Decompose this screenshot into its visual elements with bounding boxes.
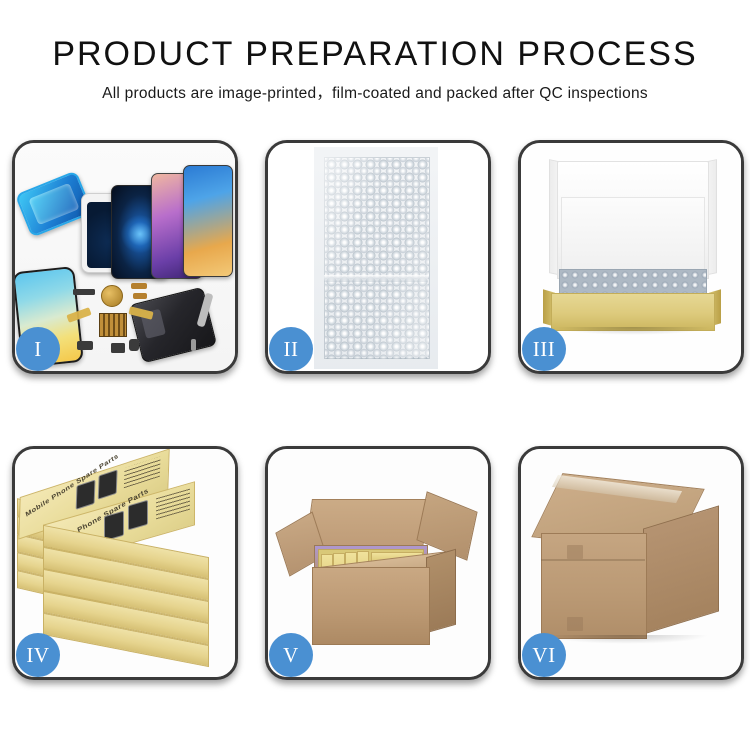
bubble-wrap-fold	[324, 275, 428, 282]
carton-side-panel	[426, 549, 456, 634]
step-badge-5: V	[269, 633, 313, 677]
step-badge-2: II	[269, 327, 313, 371]
product-preparation-infographic: PRODUCT PREPARATION PROCESS All products…	[0, 0, 750, 750]
connector-grid-part	[99, 313, 127, 337]
step-badge-1: I	[16, 327, 60, 371]
carton-right-panel	[643, 505, 719, 634]
step-panel-3-inner-box[interactable]: III	[518, 140, 744, 374]
part-strip-4	[129, 339, 139, 351]
speaker-coil-part	[101, 285, 123, 307]
box-thumbnail-front-2	[128, 500, 148, 531]
chip-gold-2	[133, 293, 147, 299]
box-shadow	[555, 327, 711, 335]
step-panel-5-carton-open[interactable]: V	[265, 446, 491, 680]
part-strip-1	[73, 289, 95, 295]
page-subtitle: All products are image-printed，film-coat…	[0, 83, 750, 105]
bubble-wrap-texture	[324, 157, 430, 359]
step-panel-2-bubble-wrap[interactable]: II	[265, 140, 491, 374]
box-thumbnail-rear-2	[98, 469, 118, 499]
step-badge-3: III	[522, 327, 566, 371]
page-title: PRODUCT PREPARATION PROCESS	[0, 34, 750, 74]
box-spec-lines-front	[156, 489, 190, 520]
carton-handle-tab-bottom	[567, 617, 583, 631]
carton-front-panel	[312, 567, 430, 645]
step-panel-4-boxes-stacked[interactable]: Mobile Phone Spare Parts Mobile Phone Sp…	[12, 446, 238, 680]
box-spec-lines-rear	[124, 456, 161, 488]
chip-gold-1	[131, 283, 147, 289]
carton-seam	[541, 559, 645, 561]
foam-insert	[561, 197, 705, 273]
step-panel-1-products[interactable]: I	[12, 140, 238, 374]
step-badge-4: IV	[16, 633, 60, 677]
box-thumbnail-rear-1	[76, 480, 96, 510]
process-steps-grid: I II III	[12, 140, 738, 674]
box-base-front	[551, 293, 715, 331]
part-strip-3	[111, 343, 125, 353]
carton-shadow	[545, 635, 709, 644]
carton-front-panel-sealed	[541, 533, 647, 639]
phone-blue-orange-gradient	[183, 165, 233, 277]
screw-set	[191, 339, 196, 351]
header: PRODUCT PREPARATION PROCESS All products…	[0, 0, 750, 105]
step-badge-6: VI	[522, 633, 566, 677]
part-strip-2	[77, 341, 93, 350]
step-panel-6-carton-sealed[interactable]: VI	[518, 446, 744, 680]
carton-handle-tab-top	[567, 545, 583, 559]
